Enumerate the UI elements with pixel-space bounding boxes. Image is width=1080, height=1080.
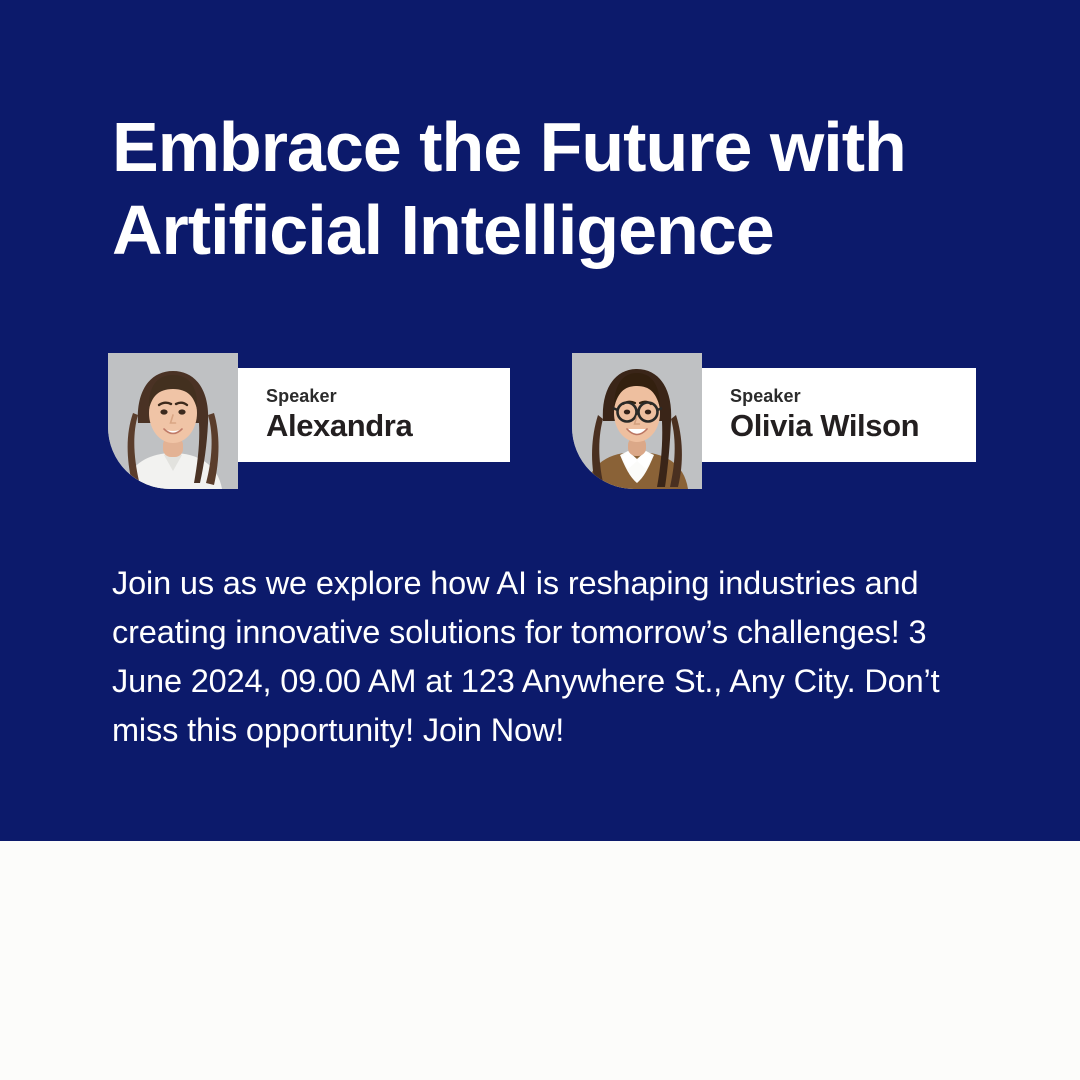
event-description: Join us as we explore how AI is reshapin…: [112, 559, 992, 755]
speaker-card-alexandra[interactable]: Speaker Alexandra: [108, 353, 510, 489]
page-title: Embrace the Future with Artificial Intel…: [112, 106, 1012, 271]
speaker-list: Speaker Alexandra: [108, 353, 976, 489]
speaker-name: Alexandra: [266, 409, 510, 444]
speaker-role-label: Speaker: [266, 387, 510, 407]
speaker-photo-alexandra: [108, 353, 238, 489]
hero-section: Embrace the Future with Artificial Intel…: [0, 0, 1080, 841]
event-poster: Embrace the Future with Artificial Intel…: [0, 0, 1080, 1080]
speaker-photo-olivia-wilson: [572, 353, 702, 489]
footer-section: Capcut Free Registration! Follow our soc…: [0, 841, 1080, 1080]
speaker-role-label: Speaker: [730, 387, 976, 407]
speaker-card-olivia-wilson[interactable]: Speaker Olivia Wilson: [572, 353, 976, 489]
speaker-info-alexandra: Speaker Alexandra: [237, 368, 510, 462]
speaker-info-olivia-wilson: Speaker Olivia Wilson: [701, 368, 976, 462]
speaker-name: Olivia Wilson: [730, 409, 976, 444]
